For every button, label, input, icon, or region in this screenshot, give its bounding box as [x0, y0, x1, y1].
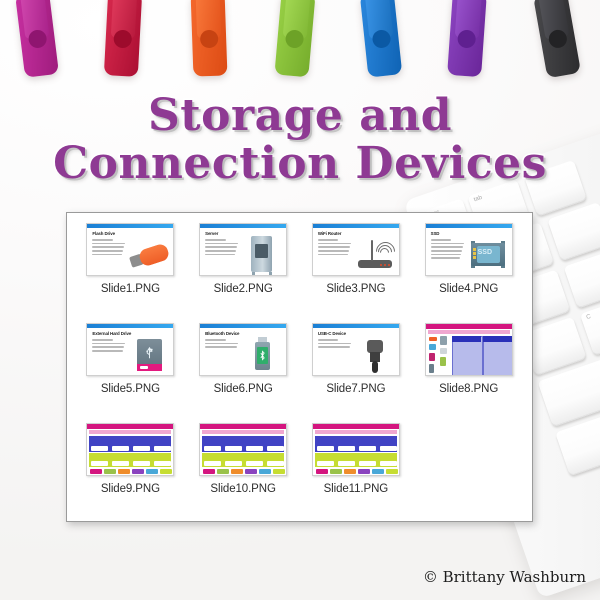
drag-tag[interactable]	[146, 469, 158, 474]
drag-tag[interactable]	[245, 469, 257, 474]
answer-box[interactable]	[204, 446, 221, 451]
drag-tag[interactable]	[231, 469, 243, 474]
file-item[interactable]: External Hard DriveSlide5.PNG	[75, 323, 186, 423]
file-name: Slide8.PNG	[439, 383, 498, 395]
purple-usb-drive	[441, 0, 494, 83]
drag-tag[interactable]	[386, 469, 398, 474]
sort-column-header	[483, 336, 512, 342]
slide-title-bar	[200, 424, 286, 429]
file-name: Slide7.PNG	[326, 383, 385, 395]
slide-title: USB-C Device	[318, 331, 346, 336]
answer-box[interactable]	[225, 446, 242, 451]
slide-subtitle-bar	[89, 430, 171, 434]
slide-subtitle-bar	[202, 430, 284, 434]
drag-tag[interactable]	[217, 469, 229, 474]
slide-title-bar	[313, 224, 399, 228]
answer-box[interactable]	[112, 461, 129, 466]
file-name: Slide4.PNG	[439, 283, 498, 295]
answer-box[interactable]	[267, 446, 284, 451]
answer-box[interactable]	[112, 446, 129, 451]
file-name: Slide5.PNG	[101, 383, 160, 395]
drag-tag[interactable]	[104, 469, 116, 474]
slide-subtitle-bar	[315, 430, 397, 434]
ssd-art: SSD	[467, 234, 509, 274]
orange-usb-drive	[184, 0, 233, 83]
answer-box[interactable]	[204, 461, 221, 466]
sort-column[interactable]	[452, 336, 483, 376]
answer-box[interactable]	[317, 446, 334, 451]
flash-drive-art	[123, 228, 174, 276]
file-item[interactable]: SSDSSDSlide4.PNG	[413, 223, 524, 323]
answer-box[interactable]	[380, 446, 397, 451]
slide-title-bar	[426, 224, 512, 228]
answer-box[interactable]	[317, 461, 334, 466]
copyright-notice: © Brittany Washburn	[423, 568, 586, 586]
slide-thumbnail[interactable]	[86, 423, 174, 476]
slide-thumbnail[interactable]: SSDSSD	[425, 223, 513, 276]
ssd-label: SSD	[478, 249, 492, 256]
crimson-usb-drive	[98, 0, 149, 83]
answer-box[interactable]	[338, 461, 355, 466]
answer-box[interactable]	[267, 461, 284, 466]
answer-box[interactable]	[338, 446, 355, 451]
file-item[interactable]: Slide11.PNG	[301, 423, 412, 523]
slide-body-text	[431, 239, 465, 261]
file-name: Slide9.PNG	[101, 483, 160, 495]
drag-tag[interactable]	[160, 469, 172, 474]
slide-subtitle-bar	[428, 330, 510, 334]
slide-title-bar	[87, 424, 173, 429]
slide-title: Bluetooth Device	[205, 331, 239, 336]
file-name: Slide1.PNG	[101, 283, 160, 295]
answer-box[interactable]	[154, 446, 171, 451]
device-icon	[429, 337, 437, 341]
drag-tag[interactable]	[259, 469, 271, 474]
answer-box[interactable]	[91, 446, 108, 451]
drag-tag[interactable]	[118, 469, 130, 474]
keyboard-key	[547, 202, 600, 261]
answer-box[interactable]	[380, 461, 397, 466]
answer-box[interactable]	[225, 461, 242, 466]
wifi-router-art	[354, 234, 396, 274]
thumbnail-grid: Flash DriveSlide1.PNGServerSlide2.PNGWiF…	[75, 223, 524, 523]
file-name: Slide2.PNG	[214, 283, 273, 295]
slide-title: SSD	[431, 231, 440, 236]
slide-body-text	[205, 339, 239, 350]
device-icon	[440, 357, 446, 366]
device-icon	[429, 364, 434, 373]
bluetooth-device-art	[241, 334, 283, 374]
server-art	[241, 234, 283, 274]
slide-title: Server	[205, 231, 218, 236]
slide-thumbnail[interactable]	[199, 423, 287, 476]
slide-title-bar	[426, 324, 512, 329]
slide-title: External Hard Drive	[92, 331, 131, 336]
device-icon	[440, 336, 447, 345]
sort-column-header	[452, 336, 481, 342]
slide-body-text	[205, 239, 239, 257]
slide-body-text	[318, 339, 352, 350]
slide-thumbnail[interactable]: Flash Drive	[86, 223, 174, 276]
drag-tag[interactable]	[132, 469, 144, 474]
file-item[interactable]: Slide10.PNG	[188, 423, 299, 523]
answer-box[interactable]	[154, 461, 171, 466]
slide-title: Flash Drive	[92, 231, 115, 236]
slide-thumbnail[interactable]: Server	[199, 223, 287, 276]
slide-title-bar	[313, 424, 399, 429]
file-item[interactable]: USB-C DeviceSlide7.PNG	[301, 323, 412, 423]
slide-body-text	[318, 239, 352, 257]
slide-thumbnail[interactable]	[425, 323, 513, 376]
answer-box[interactable]	[133, 461, 150, 466]
file-item[interactable]: Slide9.PNG	[75, 423, 186, 523]
drag-tag[interactable]	[372, 469, 384, 474]
drag-tag[interactable]	[358, 469, 370, 474]
file-name: Slide6.PNG	[214, 383, 273, 395]
slide-title-bar	[200, 224, 286, 228]
file-item[interactable]: Flash DriveSlide1.PNG	[75, 223, 186, 323]
drag-tag[interactable]	[273, 469, 285, 474]
device-icon	[429, 344, 436, 350]
file-name: Slide10.PNG	[210, 483, 275, 495]
file-item[interactable]: Slide8.PNG	[413, 323, 524, 423]
sort-column[interactable]	[483, 336, 513, 376]
drag-tag[interactable]	[330, 469, 342, 474]
answer-box[interactable]	[246, 446, 263, 451]
answer-box[interactable]	[133, 446, 150, 451]
slide-thumbnail[interactable]	[312, 423, 400, 476]
slide-title-bar	[313, 324, 399, 328]
answer-box[interactable]	[91, 461, 108, 466]
answer-box[interactable]	[359, 461, 376, 466]
slide-title: WiFi Router	[318, 231, 342, 236]
device-icon	[429, 353, 435, 361]
file-item[interactable]: WiFi RouterSlide3.PNG	[301, 223, 412, 323]
drag-tag[interactable]	[90, 469, 102, 474]
slide-title-bar	[87, 224, 173, 228]
bluetooth-icon	[260, 350, 265, 361]
slide-thumbnail[interactable]: Bluetooth Device	[199, 323, 287, 376]
file-browser-panel: Flash DriveSlide1.PNGServerSlide2.PNGWiF…	[66, 212, 533, 522]
slide-thumbnail[interactable]: External Hard Drive	[86, 323, 174, 376]
blue-usb-drive	[353, 0, 409, 84]
drag-tag[interactable]	[203, 469, 215, 474]
usb-symbol-icon	[145, 346, 154, 360]
answer-box[interactable]	[359, 446, 376, 451]
slide-body-text	[92, 239, 126, 257]
file-item[interactable]: Bluetooth DeviceSlide6.PNG	[188, 323, 299, 423]
usb-c-device-art	[354, 334, 396, 374]
device-icon	[440, 348, 447, 354]
file-name: Slide3.PNG	[326, 283, 385, 295]
slide-title-bar	[87, 324, 173, 328]
slide-thumbnail[interactable]: USB-C Device	[312, 323, 400, 376]
external-hard-drive-art	[128, 334, 170, 374]
slide-body-text	[92, 339, 126, 354]
drag-tag[interactable]	[344, 469, 356, 474]
green-usb-drive	[268, 0, 322, 84]
slide-title-bar	[200, 324, 286, 328]
file-item[interactable]: ServerSlide2.PNG	[188, 223, 299, 323]
file-name: Slide11.PNG	[324, 483, 389, 495]
answer-box[interactable]	[246, 461, 263, 466]
drag-tag[interactable]	[316, 469, 328, 474]
slide-thumbnail[interactable]: WiFi Router	[312, 223, 400, 276]
